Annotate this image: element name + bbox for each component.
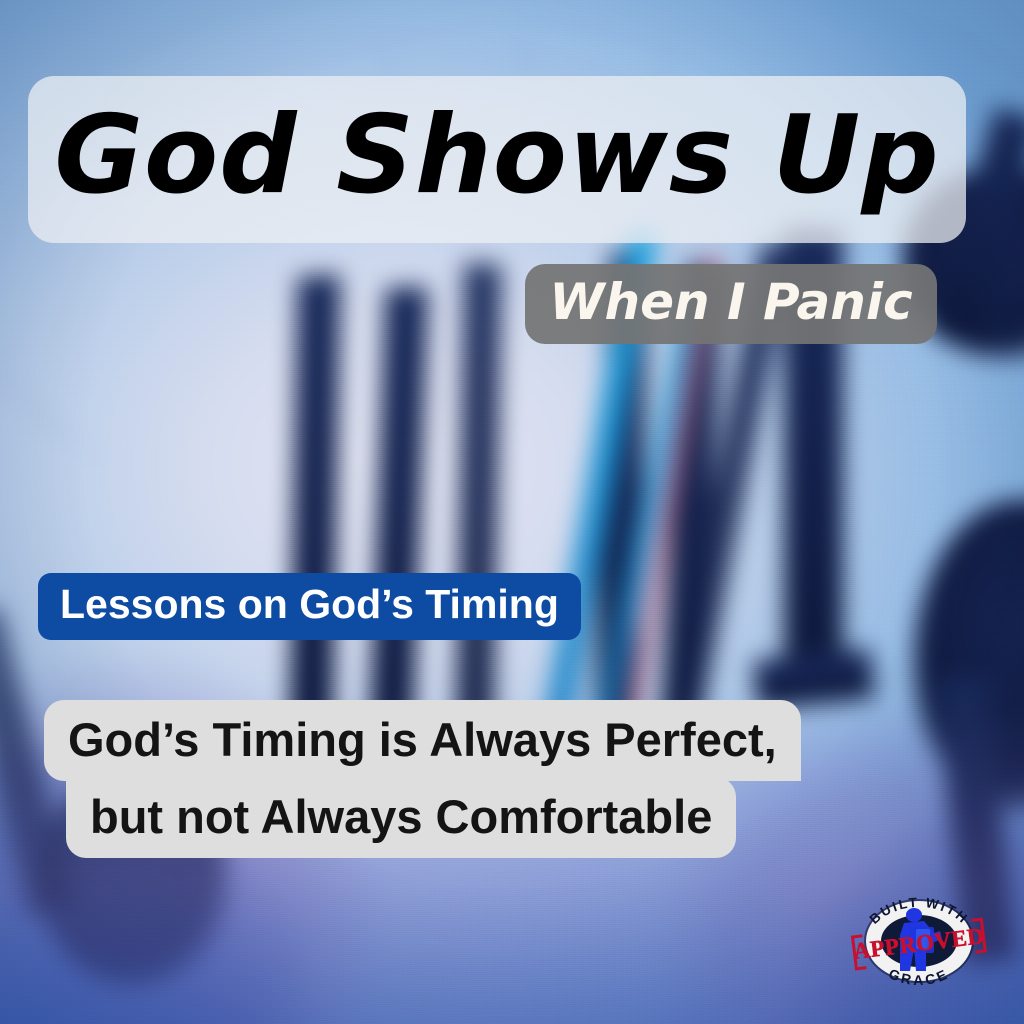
page-title: God Shows Up (54, 102, 939, 210)
built-with-grace-logo[interactable]: BUILT WITH GRACE APPROVED (848, 893, 990, 989)
page-subtitle: When I Panic (549, 277, 912, 327)
headline-block: God’s Timing is Always Perfect, but not … (44, 700, 801, 858)
headline-line-1: God’s Timing is Always Perfect, (44, 700, 801, 781)
subtitle-panel: When I Panic (525, 264, 937, 344)
series-badge-label: Lessons on God’s Timing (60, 584, 559, 625)
social-poster: God Shows Up When I Panic Lessons on God… (0, 0, 1024, 1024)
headline-line-2: but not Always Comfortable (66, 777, 736, 858)
series-badge: Lessons on God’s Timing (38, 573, 581, 640)
title-panel: God Shows Up (28, 76, 966, 243)
